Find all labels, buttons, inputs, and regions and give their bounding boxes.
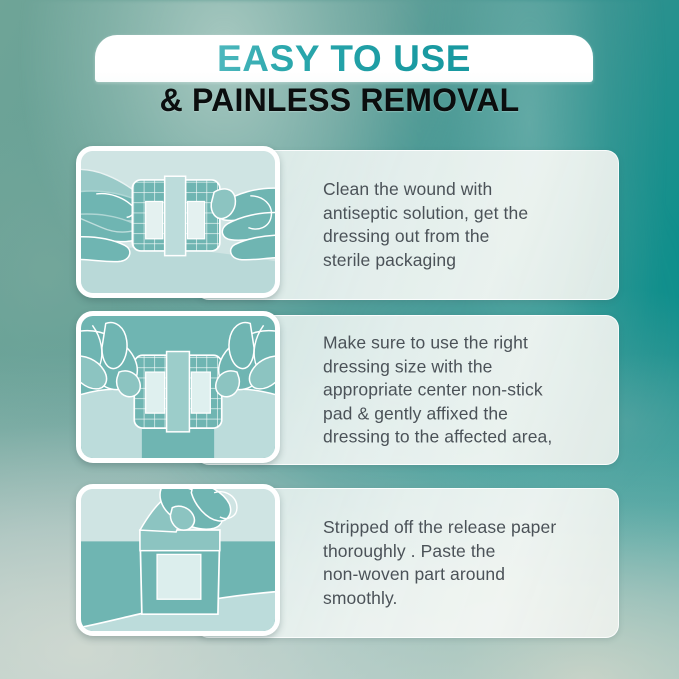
step-2-image-tile — [76, 311, 280, 463]
step-3-image-tile — [76, 484, 280, 636]
poster-root: EASY TO USE & PAINLESS REMOVAL Clean the… — [0, 0, 679, 679]
step-3-text: Stripped off the release paper thoroughl… — [323, 516, 602, 610]
step-row-2: Make sure to use the right dressing size… — [76, 311, 619, 469]
page-subtitle: & PAINLESS REMOVAL — [0, 82, 679, 119]
step-1-text: Clean the wound with antiseptic solution… — [323, 178, 602, 272]
step-row-3: Stripped off the release paper thoroughl… — [76, 484, 619, 642]
step-1-open-sterile-package — [81, 151, 275, 293]
title-banner: EASY TO USE — [95, 35, 593, 82]
page-title: EASY TO USE — [95, 35, 593, 82]
step-row-1: Clean the wound with antiseptic solution… — [76, 146, 619, 304]
step-2-apply-dressing — [81, 316, 275, 458]
step-2-text: Make sure to use the right dressing size… — [323, 331, 602, 449]
step-1-image-tile — [76, 146, 280, 298]
step-3-remove-release-paper — [81, 489, 275, 631]
